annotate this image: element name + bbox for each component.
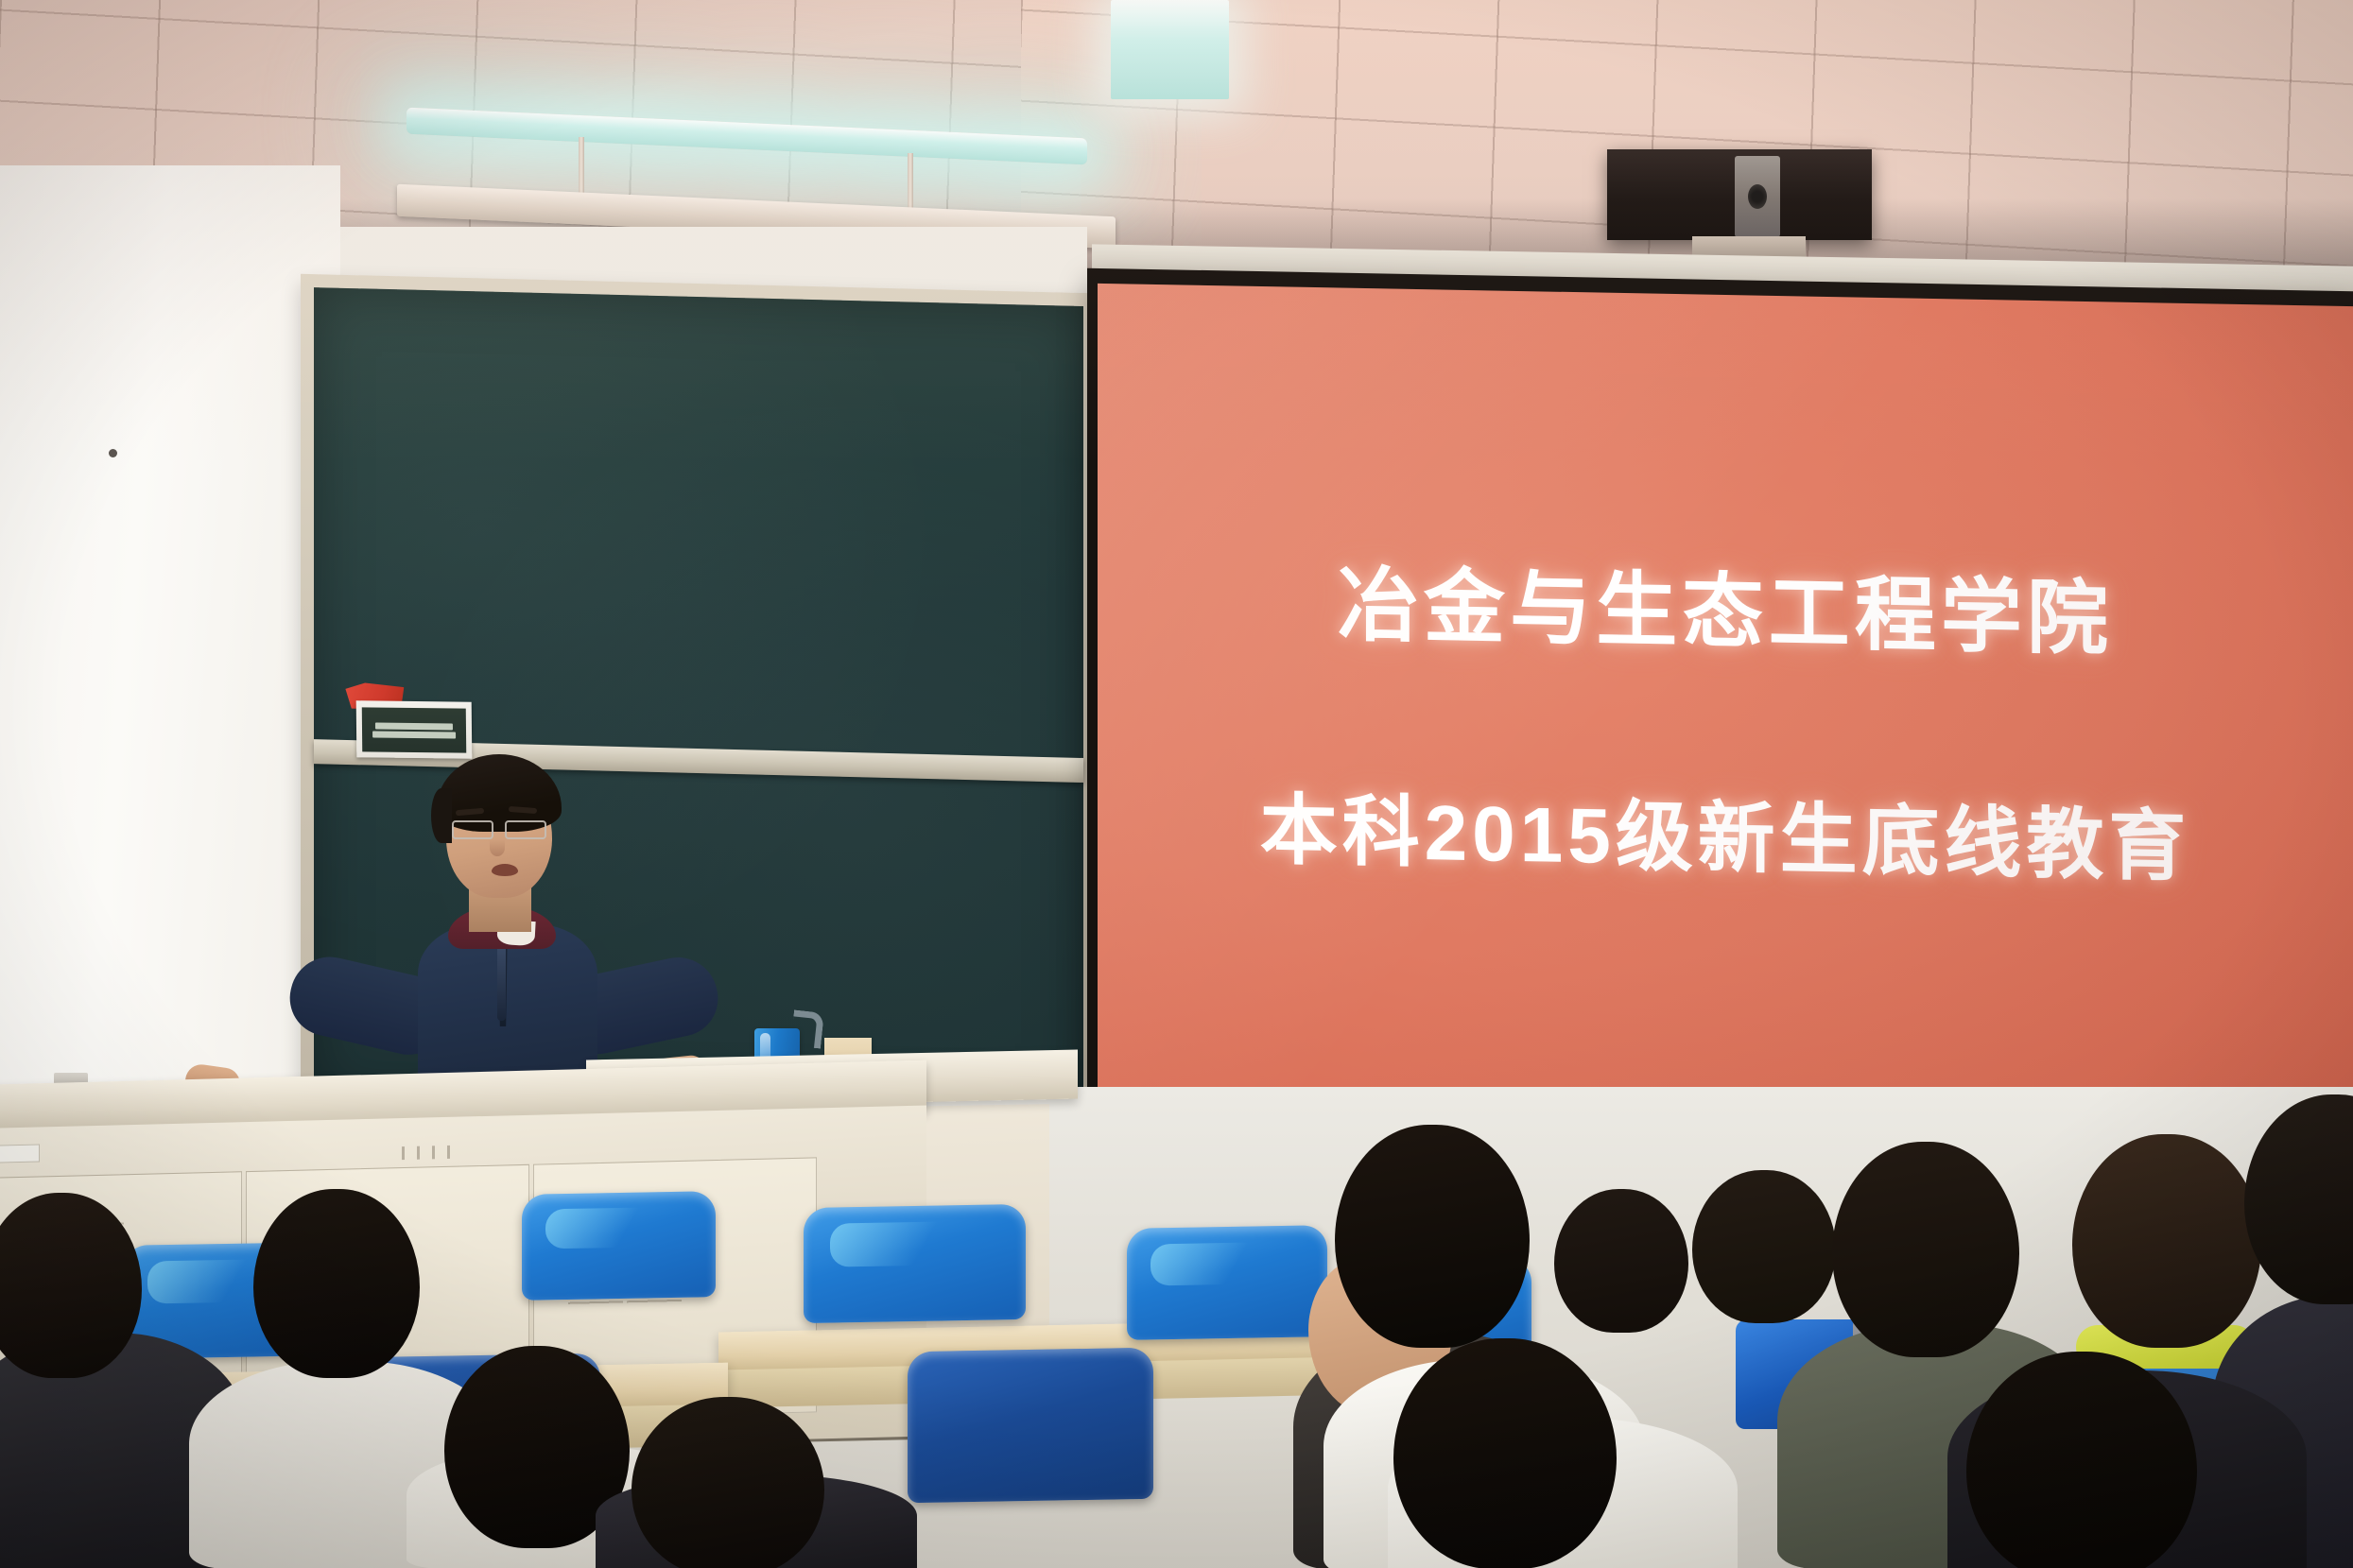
slide-title-line-1: 冶金与生态工程学院 [1338,538,2113,670]
student-head [1554,1189,1688,1333]
student-head [1335,1125,1530,1348]
student-head [1692,1170,1836,1323]
chair[interactable] [1127,1225,1327,1340]
student-right-c [2244,1094,2353,1304]
projector-lens-icon [1735,156,1780,237]
chair-highlight [1151,1242,1263,1286]
student-head [2072,1134,2261,1348]
student-center-b [1393,1338,1617,1568]
student-right-b [2072,1134,2261,1348]
student-head [1832,1142,2019,1357]
wall-nail-dot [109,449,117,457]
poster-text-line-1 [375,722,452,730]
fluorescent-panel-secondary [1111,0,1229,99]
student-head [2244,1094,2353,1304]
chair-highlight [830,1221,955,1267]
projector-ceiling-mount [1692,236,1806,257]
student-right-near [1966,1352,2197,1568]
student-left-white [253,1189,420,1378]
classroom-scene: 冶金与生态工程学院 本科2015级新生底线教育 [0,0,2353,1568]
chair[interactable] [522,1191,716,1301]
glasses-icon [450,820,548,836]
student-center-dark [632,1397,824,1568]
student-far-left [0,1193,142,1378]
student-center-a [1335,1125,1530,1348]
student-head [253,1189,420,1378]
slide-title-line-2: 本科2015级新生底线教育 [1260,767,2190,896]
poster-text-line-2 [372,731,456,738]
podium-screw-row [402,1146,460,1161]
student-right-a [1832,1142,2019,1357]
student-head [632,1397,824,1568]
student-head [0,1193,142,1378]
chair[interactable] [908,1348,1153,1504]
lecturer-nose [490,839,505,856]
chair[interactable] [804,1204,1026,1323]
lecturer-mouth [492,864,518,876]
student-back-row-b [1554,1189,1688,1333]
student-head [1393,1338,1617,1568]
student-back-row-a [1692,1170,1836,1323]
chair-highlight [147,1259,261,1304]
chair-highlight [545,1207,654,1249]
podium-asset-label [0,1144,40,1163]
student-head [1966,1352,2197,1568]
